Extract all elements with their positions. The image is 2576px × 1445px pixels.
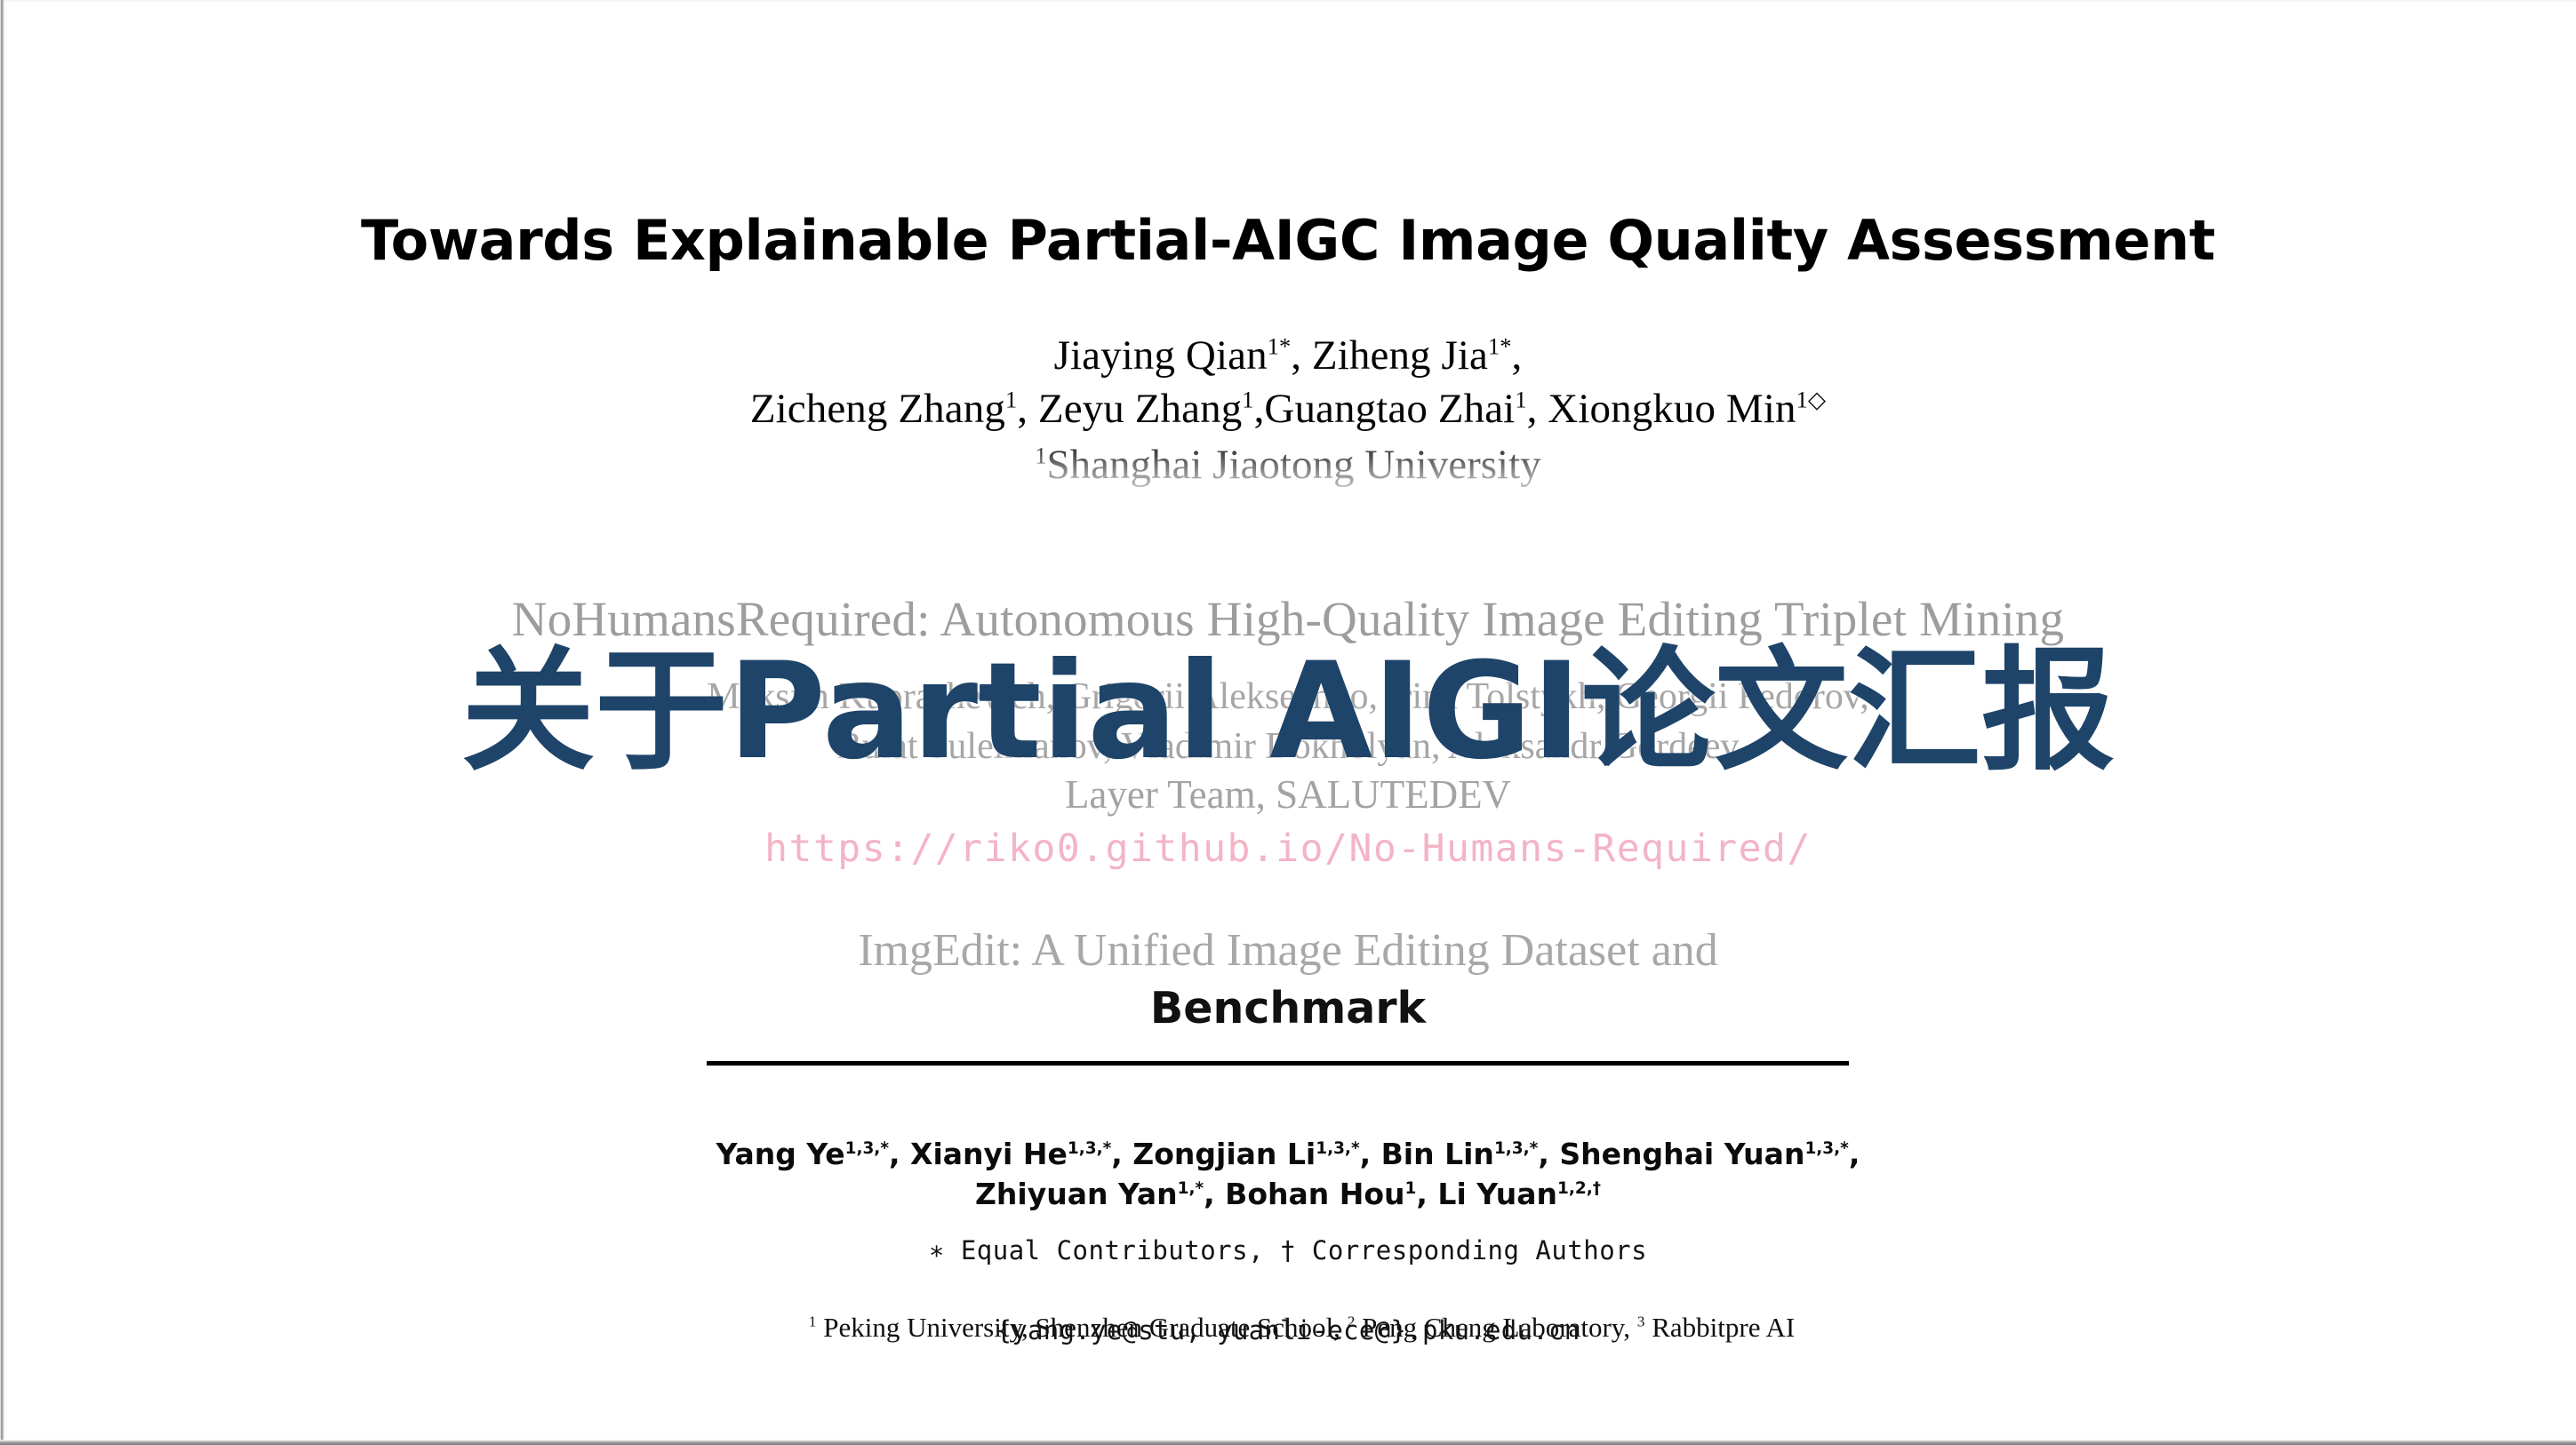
contact-email[interactable]: {yang.ye@stu, yuanli-ece@}.pku.edu.cn xyxy=(0,1315,2576,1345)
author-line-1: Jiaying Qian1*, Ziheng Jia1*, xyxy=(0,329,2576,382)
contributor-note: ∗ Equal Contributors, † Corresponding Au… xyxy=(0,1235,2576,1265)
affiliation-text: 1Shanghai Jiaotong University xyxy=(1035,442,1540,488)
author-line-2: Zicheng Zhang1, Zeyu Zhang1,Guangtao Zha… xyxy=(0,382,2576,435)
paper-authors-current: Jiaying Qian1*, Ziheng Jia1*, Zicheng Zh… xyxy=(0,329,2576,435)
paper-title-incoming-line-1: ImgEdit: A Unified Image Editing Dataset… xyxy=(0,924,2576,977)
author-line-1: Yang Ye1,3,*, Xianyi He1,3,*, Zongjian L… xyxy=(0,1135,2576,1175)
paper-affiliation-current: 1Shanghai Jiaotong University xyxy=(0,440,2576,490)
presentation-overlay-title: 关于Partial AIGI论文汇报 xyxy=(0,645,2576,778)
project-page-link[interactable]: https://riko0.github.io/No-Humans-Requir… xyxy=(0,826,2576,871)
paper-title-current: Towards Explainable Partial-AIGC Image Q… xyxy=(0,211,2576,271)
slide-bottom-edge xyxy=(0,1440,2576,1445)
paper-title-incoming-line-2: Benchmark xyxy=(0,983,2576,1034)
author-line-2: Zhiyuan Yan1,*, Bohan Hou1, Li Yuan1,2,† xyxy=(0,1175,2576,1215)
slide-top-edge xyxy=(0,0,2576,3)
presentation-slide: Towards Explainable Partial-AIGC Image Q… xyxy=(0,0,2576,1445)
paper-authors-incoming: Yang Ye1,3,*, Xianyi He1,3,*, Zongjian L… xyxy=(0,1135,2576,1215)
horizontal-divider xyxy=(707,1061,1849,1066)
